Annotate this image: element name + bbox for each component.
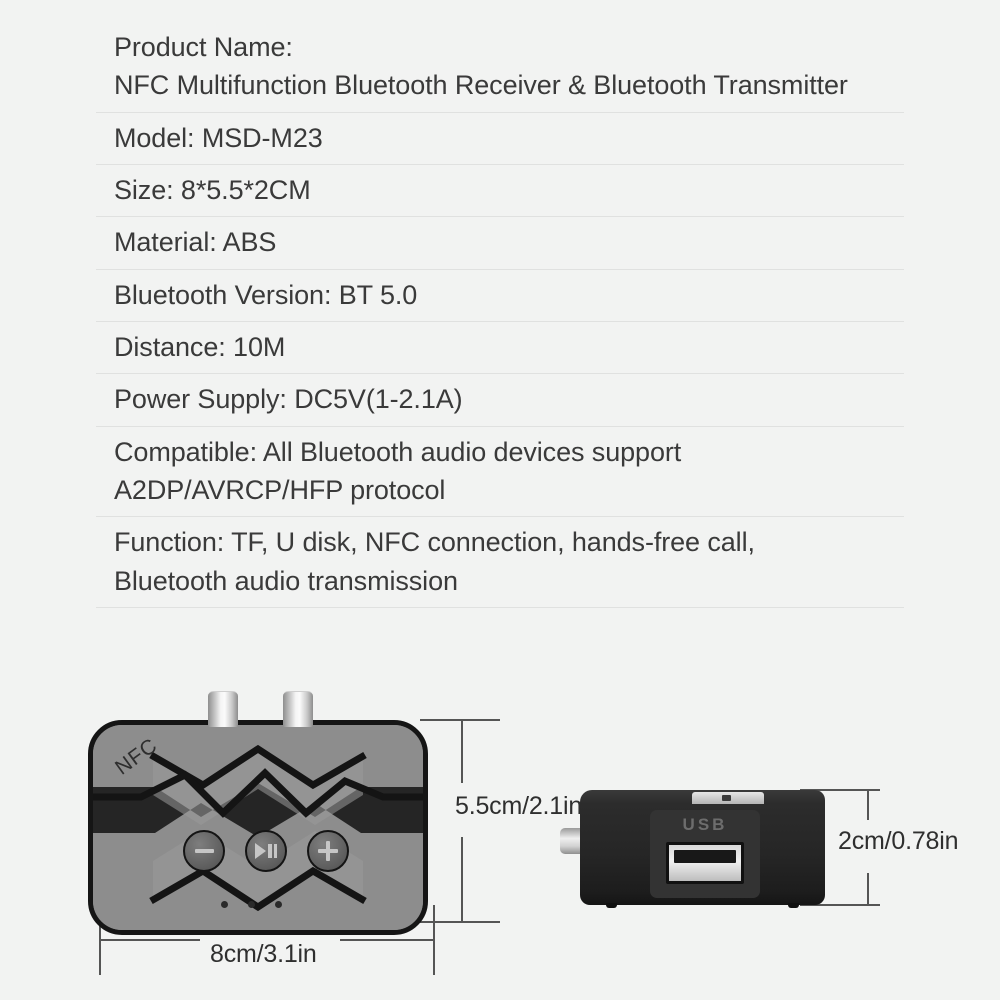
device-foot xyxy=(788,903,799,908)
spec-row-power-supply: Power Supply: DC5V(1-2.1A) xyxy=(96,374,904,426)
spec-row-material: Material: ABS xyxy=(96,217,904,269)
minus-icon xyxy=(195,849,214,853)
indicator-dot xyxy=(275,901,282,908)
spec-line: Compatible: All Bluetooth audio devices … xyxy=(114,433,904,471)
usb-plate: USB xyxy=(650,810,760,898)
product-spec-table: Product Name: NFC Multifunction Bluetoot… xyxy=(96,22,904,608)
volume-down-button[interactable] xyxy=(183,830,225,872)
rca-jack-left xyxy=(208,691,238,727)
spec-row-distance: Distance: 10M xyxy=(96,322,904,374)
spec-line: Material: ABS xyxy=(114,223,904,261)
spec-line: A2DP/AVRCP/HFP protocol xyxy=(114,471,904,509)
spec-line: NFC Multifunction Bluetooth Receiver & B… xyxy=(114,66,904,104)
product-dimension-diagram: 5.5cm/2.1in 8cm/3.1in 2cm/0.78in xyxy=(0,615,1000,1000)
indicator-dots xyxy=(221,901,282,908)
spec-row-product-name: Product Name: NFC Multifunction Bluetoot… xyxy=(96,22,904,113)
spec-row-function: Function: TF, U disk, NFC connection, ha… xyxy=(96,517,904,608)
spec-row-model: Model: MSD-M23 xyxy=(96,113,904,165)
spec-row-compatible: Compatible: All Bluetooth audio devices … xyxy=(96,427,904,518)
tf-card-slot xyxy=(692,792,764,804)
spec-line: Product Name: xyxy=(114,28,904,66)
spec-line: Bluetooth audio transmission xyxy=(114,562,904,600)
dimension-label-depth: 2cm/0.78in xyxy=(838,827,958,856)
device-side-view: USB xyxy=(560,780,825,910)
spec-line: Size: 8*5.5*2CM xyxy=(114,171,904,209)
volume-up-button[interactable] xyxy=(307,830,349,872)
usb-port xyxy=(666,842,744,884)
spec-line: Power Supply: DC5V(1-2.1A) xyxy=(114,380,904,418)
spec-row-bluetooth-version: Bluetooth Version: BT 5.0 xyxy=(96,270,904,322)
spec-line: Distance: 10M xyxy=(114,328,904,366)
plus-icon xyxy=(318,841,338,861)
dimension-label-width: 8cm/3.1in xyxy=(210,940,317,969)
device-side-body: USB xyxy=(580,790,825,905)
indicator-dot xyxy=(221,901,228,908)
spec-line: Bluetooth Version: BT 5.0 xyxy=(114,276,904,314)
device-front-body: NFC xyxy=(88,720,428,935)
device-front-view: NFC xyxy=(88,655,428,935)
spec-line: Model: MSD-M23 xyxy=(114,119,904,157)
device-foot xyxy=(606,903,617,908)
spec-row-size: Size: 8*5.5*2CM xyxy=(96,165,904,217)
spec-line: Function: TF, U disk, NFC connection, ha… xyxy=(114,523,904,561)
play-pause-icon xyxy=(255,843,277,859)
rca-jack-right xyxy=(283,691,313,727)
usb-label: USB xyxy=(650,815,760,835)
play-pause-button[interactable] xyxy=(245,830,287,872)
indicator-dot xyxy=(248,901,255,908)
